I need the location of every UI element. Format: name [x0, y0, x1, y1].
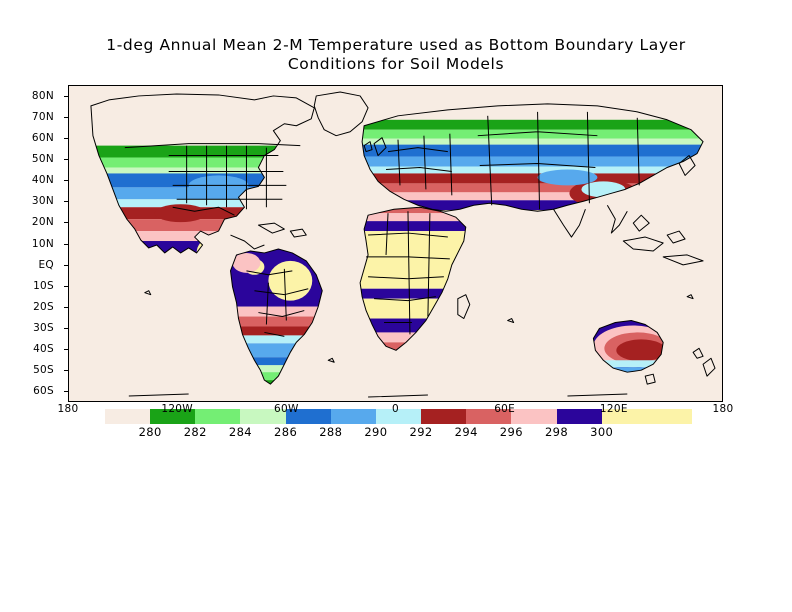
colorbar-band-2: [195, 409, 240, 424]
colorbar-band-12: [647, 409, 692, 424]
lat-tick-label-50s: 50S: [33, 364, 54, 376]
lat-tick-label-40s: 40S: [33, 343, 54, 355]
colorbar: 280282284286288290292294296298300: [0, 409, 792, 449]
figure-canvas: 1-deg Annual Mean 2-M Temperature used a…: [0, 0, 792, 612]
colorbar-band-10: [557, 409, 602, 424]
latitude-axis: 80N70N60N50N40N30N20N10NEQ10S20S30S40S50…: [0, 85, 64, 402]
lon-tick-label-60w: 60W: [274, 403, 299, 415]
lat-tick-label-60s: 60S: [33, 385, 54, 397]
page-title: 1-deg Annual Mean 2-M Temperature used a…: [0, 36, 792, 74]
world-temperature-map: [69, 86, 722, 401]
lat-tick-label-eq: EQ: [39, 259, 55, 271]
colorbar-label-292: 292: [409, 425, 432, 439]
colorbar-label-294: 294: [455, 425, 478, 439]
lat-tick-label-20n: 20N: [32, 216, 54, 228]
lat-tick-label-60n: 60N: [32, 132, 54, 144]
colorbar-label-298: 298: [545, 425, 568, 439]
colorbar-label-286: 286: [274, 425, 297, 439]
lat-tick-label-40n: 40N: [32, 174, 54, 186]
colorbar-label-290: 290: [364, 425, 387, 439]
lat-tick-label-30n: 30N: [32, 195, 54, 207]
colorbar-label-280: 280: [139, 425, 162, 439]
lon-tick-label-180: 180: [58, 403, 79, 415]
lon-tick-label-180: 180: [713, 403, 734, 415]
lon-tick-label-120w: 120W: [161, 403, 193, 415]
colorbar-label-288: 288: [319, 425, 342, 439]
colorbar-label-296: 296: [500, 425, 523, 439]
lat-tick-label-80n: 80N: [32, 90, 54, 102]
colorbar-band-7: [421, 409, 466, 424]
colorbar-label-300: 300: [590, 425, 613, 439]
lon-tick-label-120e: 120E: [600, 403, 628, 415]
longitude-axis: [0, 0, 792, 20]
lat-tick-label-10s: 10S: [33, 280, 54, 292]
colorbar-label-284: 284: [229, 425, 252, 439]
colorbar-band-0: [105, 409, 150, 424]
title-line-1: 1-deg Annual Mean 2-M Temperature used a…: [0, 36, 792, 55]
lat-tick-label-70n: 70N: [32, 111, 54, 123]
lat-tick-label-10n: 10N: [32, 238, 54, 250]
colorbar-band-9: [511, 409, 556, 424]
colorbar-band-5: [331, 409, 376, 424]
lon-tick-label-0: 0: [392, 403, 399, 415]
lat-tick-label-20s: 20S: [33, 301, 54, 313]
lon-tick-label-60e: 60E: [494, 403, 515, 415]
colorbar-label-282: 282: [184, 425, 207, 439]
map-plot-area: [68, 85, 723, 402]
lat-tick-label-30s: 30S: [33, 322, 54, 334]
title-line-2: Conditions for Soil Models: [0, 55, 792, 74]
lat-tick-label-50n: 50N: [32, 153, 54, 165]
